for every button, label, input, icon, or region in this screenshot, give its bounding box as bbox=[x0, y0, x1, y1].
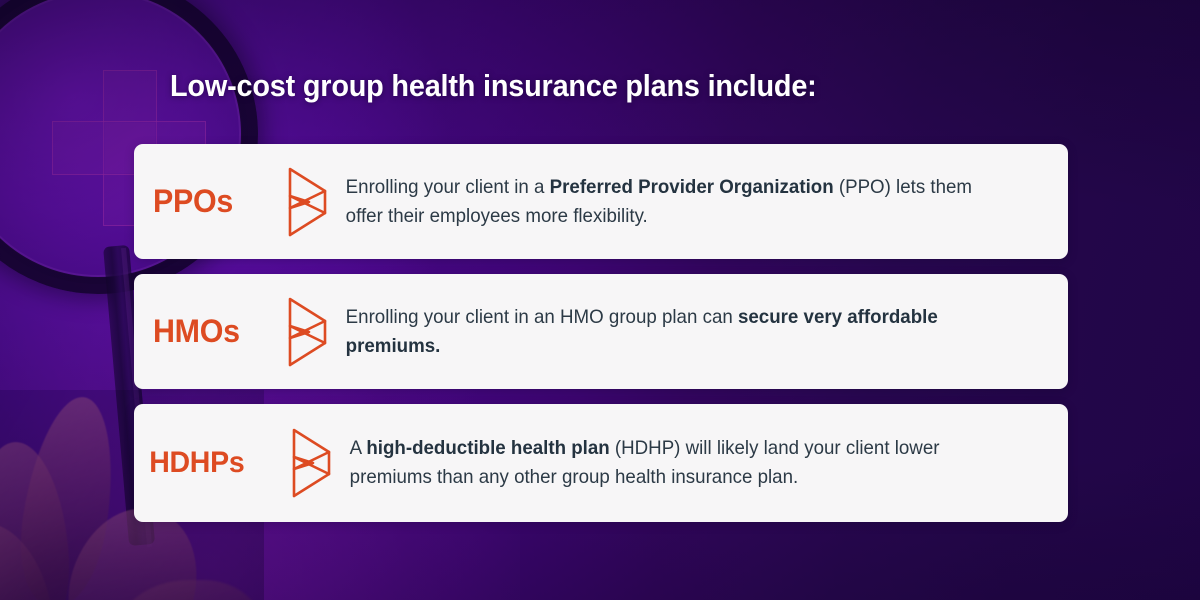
plan-label: HMOs bbox=[134, 313, 273, 350]
plan-description-part: Enrolling your client in a bbox=[346, 176, 550, 198]
plan-description: Enrolling your client in an HMO group pl… bbox=[338, 303, 1039, 361]
plan-description-emphasis: high-deductible health plan bbox=[366, 437, 609, 459]
bowtie-chevron-icon bbox=[280, 163, 338, 241]
plan-label: PPOs bbox=[134, 183, 273, 220]
plan-card-hmos: HMOs Enrolling your client in an HMO gro… bbox=[134, 274, 1068, 389]
bowtie-chevron-icon bbox=[284, 424, 342, 502]
plan-card-hdhps: HDHPs A high-deductible health plan (HDH… bbox=[134, 404, 1068, 522]
page-title: Low-cost group health insurance plans in… bbox=[170, 68, 817, 104]
plan-description: A high-deductible health plan (HDHP) wil… bbox=[342, 434, 1039, 492]
plan-description-emphasis: Preferred Provider Organization bbox=[550, 176, 834, 198]
bowtie-chevron-icon bbox=[280, 293, 338, 371]
plan-card-ppos: PPOs Enrolling your client in a Preferre… bbox=[134, 144, 1068, 259]
plan-description-part: Enrolling your client in an HMO group pl… bbox=[346, 306, 738, 328]
plan-label: HDHPs bbox=[134, 446, 277, 480]
infographic-canvas: Low-cost group health insurance plans in… bbox=[0, 0, 1200, 600]
plan-description-part: A bbox=[350, 437, 367, 459]
plan-description: Enrolling your client in a Preferred Pro… bbox=[338, 173, 1039, 231]
plan-card-list: PPOs Enrolling your client in a Preferre… bbox=[134, 144, 1068, 522]
